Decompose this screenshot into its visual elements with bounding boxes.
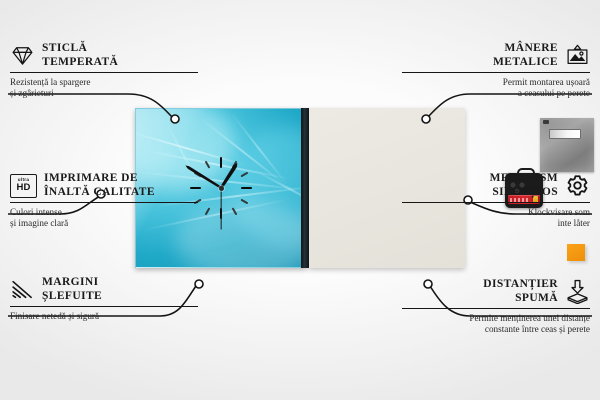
callout-high-quality-print: ultra HD IMPRIMARE DE ÎNALTĂ CALITATE Cu…	[10, 172, 198, 230]
callout-title-line1: MARGINI	[42, 276, 102, 290]
callout-title-line1: MECANISM	[490, 172, 558, 186]
callout-subtitle-line2: a ceasului pe perete	[402, 88, 590, 99]
callout-title-line1: DISTANȚIER	[483, 278, 558, 292]
callout-title-line1: MÂNERE	[493, 42, 558, 56]
callout-divider	[10, 306, 198, 307]
callout-tempered-glass: STICLĂ TEMPERATĂ Rezistență la spargere …	[10, 42, 198, 100]
hour-hand	[219, 162, 239, 189]
callout-subtitle-line1: Permite menținerea unei distanțe	[402, 313, 590, 324]
foam-spacer-part	[567, 244, 585, 261]
callout-divider	[402, 202, 590, 203]
callout-title-line1: IMPRIMARE DE	[44, 172, 155, 186]
metal-hanger-plate	[540, 118, 594, 172]
callout-title-line2: ÎNALTĂ CALITATE	[44, 186, 155, 200]
second-hand	[220, 188, 221, 230]
callout-subtitle-line2: și imagine clară	[10, 218, 198, 229]
ultra-hd-icon: ultra HD	[10, 174, 37, 198]
infographic-stage: STICLĂ TEMPERATĂ Rezistență la spargere …	[0, 0, 600, 400]
callout-subtitle-line1: Permit montarea ușoară	[402, 77, 590, 88]
callout-divider	[402, 308, 590, 309]
ultra-hd-icon-main: HD	[16, 183, 30, 193]
callout-subtitle-line1: Klockvisare som	[402, 207, 590, 218]
arrow-down-layer-icon	[565, 279, 590, 304]
callout-subtitle-line2: constante între ceas și perete	[402, 324, 590, 335]
callout-title-line2: SILENȚIOS	[490, 186, 558, 200]
callout-subtitle-line1: Finisare netedă și sigură	[10, 311, 198, 322]
gear-icon	[565, 173, 590, 198]
callout-subtitle-line1: Rezistență la spargere	[10, 77, 198, 88]
callout-title-line1: STICLĂ	[42, 42, 118, 56]
callout-divider	[10, 202, 198, 203]
callout-divider	[402, 72, 590, 73]
diamond-icon	[10, 43, 35, 68]
callout-subtitle-line1: Culori intense	[10, 207, 198, 218]
callout-title-line2: METALICE	[493, 56, 558, 70]
callout-subtitle-line2: și zgârieturi	[10, 88, 198, 99]
callout-metal-handles: MÂNERE METALICE Permit montarea ușoară a…	[402, 42, 590, 100]
callout-title-line2: TEMPERATĂ	[42, 56, 118, 70]
callout-title-line2: ȘLEFUITE	[42, 290, 102, 304]
clock-side-edge	[301, 108, 309, 268]
callout-title-line2: SPUMĂ	[483, 292, 558, 306]
hanging-frame-icon	[565, 43, 590, 68]
callout-polished-edges: MARGINI ȘLEFUITE Finisare netedă și sigu…	[10, 276, 198, 322]
callout-foam-spacer: DISTANȚIER SPUMĂ Permite menținerea unei…	[402, 278, 590, 336]
callout-divider	[10, 72, 198, 73]
diagonal-lines-icon	[10, 277, 35, 302]
callout-silent-mechanism: MECANISM SILENȚIOS Klockvisare som inte …	[402, 172, 590, 230]
clock-center-pin	[219, 186, 224, 191]
callout-subtitle-line2: inte låter	[402, 218, 590, 229]
